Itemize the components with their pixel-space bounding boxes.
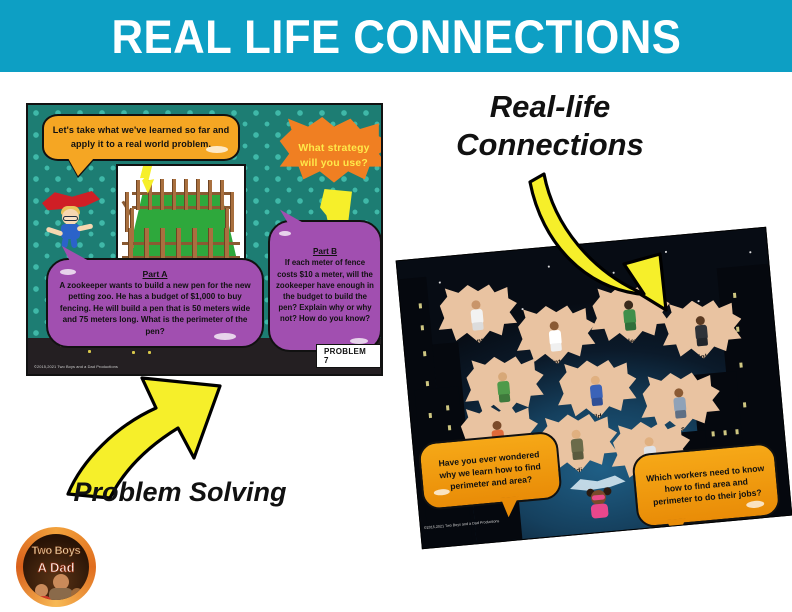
callout-line-1: Real-life [432, 88, 668, 126]
part-b-bubble[interactable]: Part B If each meter of fence costs $10 … [268, 220, 382, 352]
logo-dad-body [49, 588, 73, 600]
pen-post [220, 180, 224, 210]
page-header-banner: REAL LIFE CONNECTIONS [0, 0, 792, 72]
figure-legs [550, 343, 562, 352]
logo-boy2-body [69, 598, 88, 600]
logo-text-top: Two Boys [23, 545, 89, 557]
problem-number-badge: PROBLEM 7 [316, 344, 381, 368]
callout-line-2: Connections [432, 126, 668, 164]
figure-legs [696, 338, 708, 347]
arrow-to-real-life-connections-slide [520, 168, 690, 313]
pen-post [160, 179, 164, 210]
part-a-bubble[interactable]: Part A A zookeeper wants to build a new … [46, 258, 264, 348]
superhero-boy-illustration [40, 189, 102, 247]
part-a-heading: Part A [143, 269, 168, 279]
painter-figure-icon [543, 320, 568, 352]
problem-solving-slide[interactable]: Let's take what we've learned so far and… [26, 103, 383, 376]
page-title: REAL LIFE CONNECTIONS [111, 9, 681, 64]
firefighter-figure-icon [689, 315, 714, 347]
pen-post [208, 180, 212, 210]
question-right-text: Which workers need to know how to find a… [633, 444, 779, 526]
real-life-connections-label: Real-life Connections [432, 88, 668, 164]
figure-legs [625, 322, 637, 331]
part-b-heading: Part B [313, 247, 337, 256]
pen-post [125, 192, 129, 232]
strategy-line-2: will you use? [300, 157, 368, 172]
logo-boy1-body [31, 596, 51, 600]
strategy-line-1: What strategy [298, 142, 369, 157]
part-a-body: A zookeeper wants to build a new pen for… [54, 280, 256, 337]
figure-legs [591, 397, 603, 406]
pen-post [172, 179, 176, 210]
page-root: REAL LIFE CONNECTIONS [0, 0, 792, 612]
figure-legs [572, 451, 584, 460]
part-b-body: If each meter of fence costs $10 a meter… [276, 257, 374, 324]
astronomer-figure-icon [491, 371, 516, 403]
question-bubble-left[interactable]: Have you ever wondered why we learn how … [417, 431, 563, 511]
logo-inner: Two Boys A Dad [23, 534, 89, 600]
glasses-icon [63, 216, 78, 221]
torso [591, 503, 609, 518]
builder-figure-icon [584, 375, 609, 407]
figure-legs [675, 410, 687, 419]
scientist-figure-icon [465, 299, 490, 331]
pen-post [136, 180, 140, 210]
question-left-text: Have you ever wondered why we learn how … [419, 433, 560, 509]
pen-post [230, 192, 234, 232]
logo-text-bottom: A Dad [23, 560, 89, 575]
intro-speech-bubble[interactable]: Let's take what we've learned so far and… [42, 114, 240, 161]
figure-legs [472, 322, 484, 331]
pen-rail-front-top [122, 242, 240, 245]
pen-post [196, 179, 200, 210]
pen-post [184, 179, 188, 210]
business-person-figure-icon [667, 387, 692, 419]
brand-logo[interactable]: Two Boys A Dad [16, 527, 96, 607]
intro-bubble-text: Let's take what we've learned so far and… [44, 116, 238, 159]
figure-legs [499, 394, 511, 403]
question-bubble-right[interactable]: Which workers need to know how to find a… [631, 442, 781, 529]
problem-solving-label: Problem Solving [44, 476, 316, 509]
speech-bubble-tail [68, 158, 94, 176]
superhero-girl-illustration [569, 474, 629, 529]
strategy-starburst[interactable]: What strategy will you use? [275, 117, 383, 197]
soldier-figure-icon [565, 429, 590, 461]
leg [61, 237, 69, 249]
